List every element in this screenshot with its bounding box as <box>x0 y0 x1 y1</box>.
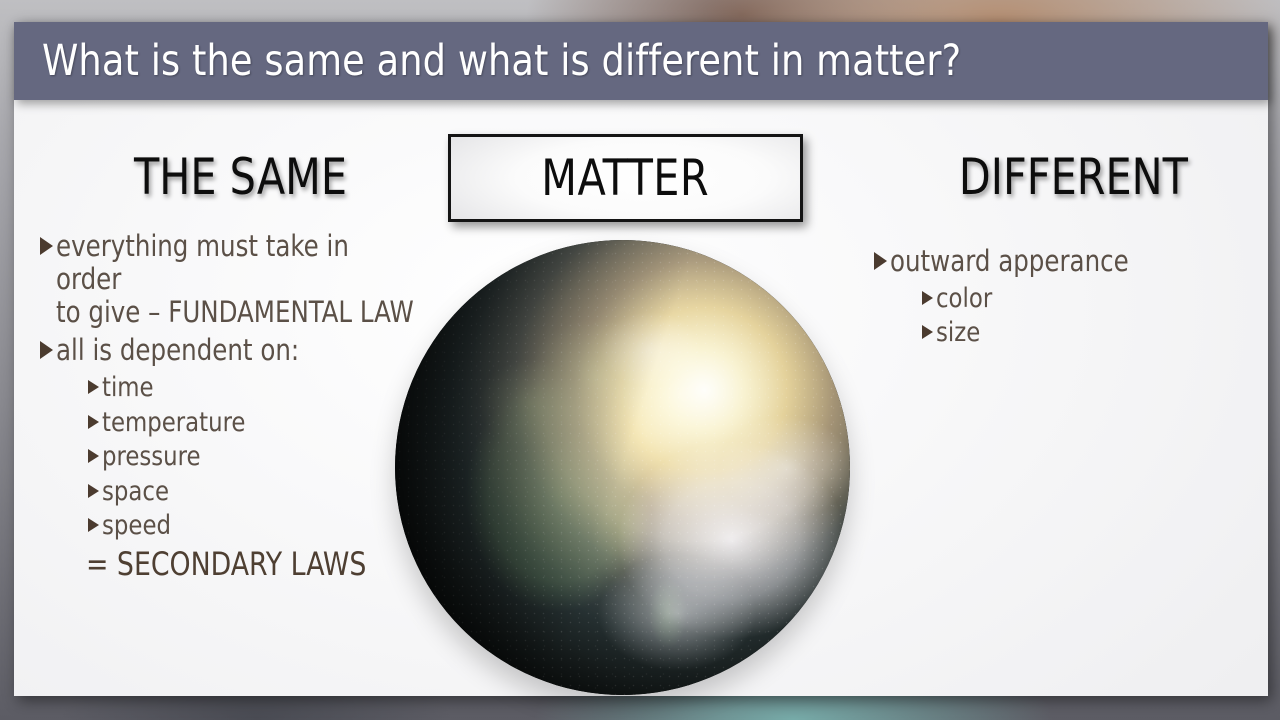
triangle-bullet-icon <box>922 291 933 305</box>
slide-title-bar: What is the same and what is different i… <box>14 22 1268 100</box>
bullet-item: all is dependent on: <box>40 334 440 367</box>
matter-label: MATTER <box>542 153 710 203</box>
triangle-bullet-icon <box>88 484 99 498</box>
triangle-bullet-icon <box>40 341 53 359</box>
bullet-text: temperature <box>102 408 245 439</box>
bullet-text: speed <box>102 511 171 542</box>
bullet-item: speed <box>88 511 440 542</box>
triangle-bullet-icon <box>922 325 933 339</box>
slide-body: THE SAME DIFFERENT MATTER everything mus… <box>14 100 1268 696</box>
bullet-text: everything must take in order to give – … <box>56 230 417 328</box>
matter-box: MATTER <box>448 134 803 222</box>
globe-terminator-layer <box>395 240 850 695</box>
bullet-text: time <box>102 373 154 404</box>
column-heading-the-same: THE SAME <box>134 152 347 202</box>
bullet-text: outward apperance <box>890 245 1129 278</box>
bullet-item: outward apperance <box>874 245 1204 278</box>
globe-sphere <box>395 240 850 695</box>
bullet-item: size <box>922 318 1204 349</box>
bullet-text: pressure <box>102 442 201 473</box>
bullet-text: size <box>936 318 980 349</box>
triangle-bullet-icon <box>88 518 99 532</box>
bullet-text: color <box>936 284 992 315</box>
bullet-text: space <box>102 477 169 508</box>
bullet-list-the-same: everything must take in order to give – … <box>40 230 440 580</box>
bullet-item: color <box>922 284 1204 315</box>
triangle-bullet-icon <box>874 252 887 270</box>
slide-title: What is the same and what is different i… <box>42 40 961 83</box>
triangle-bullet-icon <box>88 380 99 394</box>
bullet-item: pressure <box>88 442 440 473</box>
bullet-item: space <box>88 477 440 508</box>
secondary-laws-summary: = SECONDARY LAWS <box>86 548 415 580</box>
bullet-list-different: outward apperance color size <box>874 245 1204 353</box>
triangle-bullet-icon <box>88 415 99 429</box>
triangle-bullet-icon <box>88 449 99 463</box>
bullet-item: temperature <box>88 408 440 439</box>
triangle-bullet-icon <box>40 237 53 255</box>
slide-canvas: What is the same and what is different i… <box>14 22 1268 696</box>
bullet-item: time <box>88 373 440 404</box>
column-heading-different: DIFFERENT <box>959 152 1188 202</box>
bullet-item: everything must take in order to give – … <box>40 230 440 328</box>
bullet-text: all is dependent on: <box>56 334 299 367</box>
earth-globe-image <box>395 240 855 700</box>
